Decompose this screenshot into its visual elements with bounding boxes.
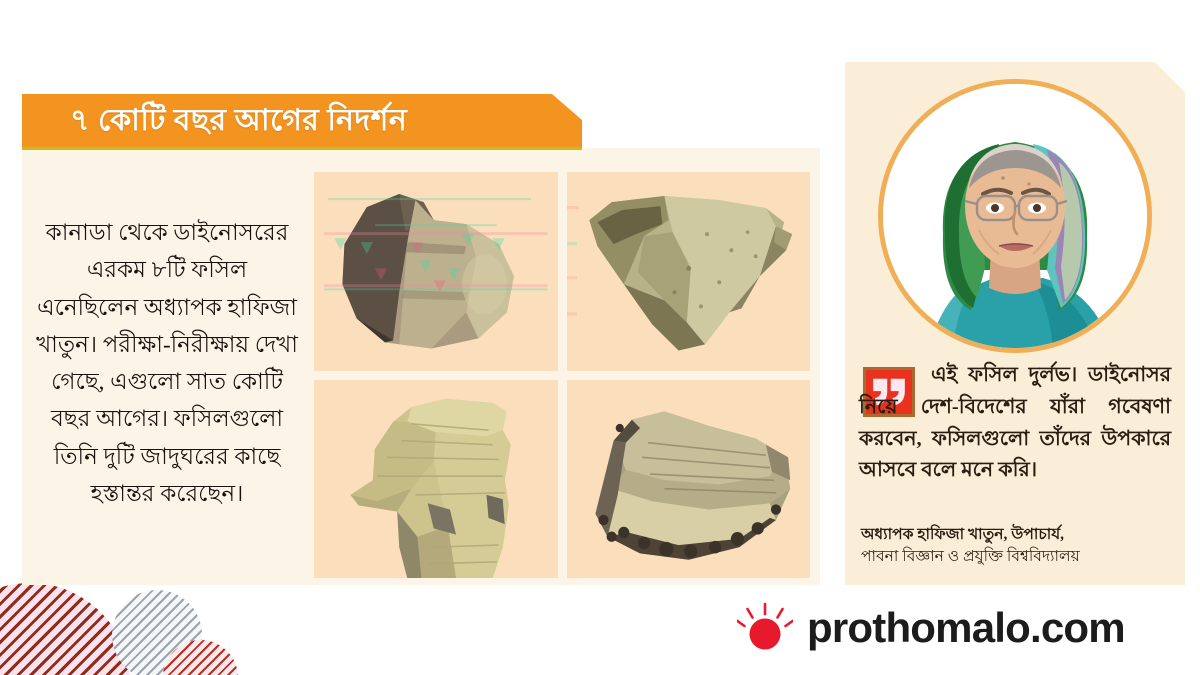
fossil-photo-1: [314, 172, 558, 371]
brand-logo[interactable]: prothomalo.com: [737, 600, 1125, 656]
article-body-text: কানাডা থেকে ডাইনোসরের এরকম ৮টি ফসিল এনেছ…: [36, 214, 298, 512]
fossil-image-2: [567, 172, 811, 371]
profile-quote-panel: এই ফসিল দুর্লভ। ডাইনোসর নিয়ে দেশ-বিদেশে…: [845, 62, 1185, 585]
sun-logo-icon: [737, 600, 793, 656]
quote-text: এই ফসিল দুর্লভ। ডাইনোসর নিয়ে দেশ-বিদেশে…: [859, 360, 1171, 487]
striped-circle-red-icon: [163, 640, 238, 675]
page-title: ৭ কোটি বছর আগের নিদর্শন: [22, 106, 407, 136]
fossil-photo-4: [567, 380, 811, 579]
attribution-affiliation: পাবনা বিজ্ঞান ও প্রযুক্তি বিশ্ববিদ্যালয়: [861, 546, 1173, 568]
striped-circle-grey-icon: [112, 590, 202, 675]
attribution-name: অধ্যাপক হাফিজা খাতুন, উপাচার্য,: [861, 524, 1173, 546]
brand-name: prothomalo.com: [807, 607, 1125, 649]
fossil-photo-grid: [314, 172, 810, 578]
avatar: [878, 79, 1152, 353]
profile-photo: [883, 84, 1147, 348]
headline-banner: ৭ কোটি বছর আগের নিদর্শন: [22, 94, 582, 150]
main-panel-top-fill: [22, 148, 820, 174]
fossil-image-1: [314, 172, 558, 371]
fossil-photo-3: [314, 380, 558, 579]
striped-circle-maroon-icon: [0, 583, 130, 675]
fossil-photo-2: [567, 172, 811, 371]
infographic-canvas: ৭ কোটি বছর আগের নিদর্শন কানাডা থেকে ডাইন…: [0, 0, 1200, 675]
fossil-image-3: [314, 380, 558, 579]
quote-attribution: অধ্যাপক হাফিজা খাতুন, উপাচার্য, পাবনা বি…: [861, 524, 1173, 569]
fossil-image-4: [567, 380, 811, 579]
